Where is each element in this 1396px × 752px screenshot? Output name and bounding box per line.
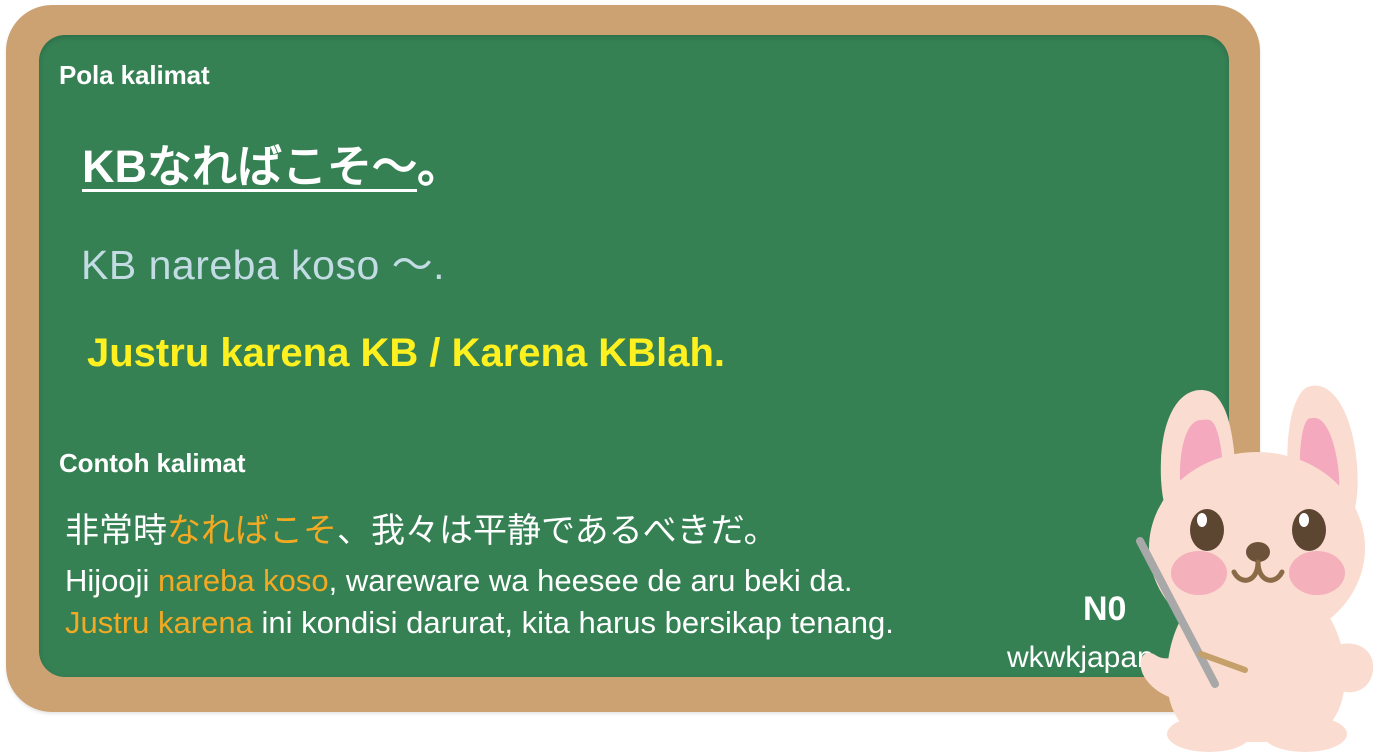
pattern-indonesian: Justru karena KB / Karena KBlah. [87,331,725,376]
left-eye-highlight [1197,513,1207,527]
example-jp-prefix: 非常時 [65,512,167,550]
right-foot [1263,716,1347,752]
blackboard-frame: Pola kalimat KBなればこそ～。 KB nareba koso ～.… [6,5,1260,712]
pattern-japanese: KBなればこそ～。 [82,130,462,195]
example-jp-suffix: 、我々は平静であるべきだ。 [337,512,778,550]
pattern-japanese-underlined: KBなればこそ～ [82,141,417,192]
example-romaji-highlight: nareba koso [158,563,329,598]
left-eye-icon [1190,509,1224,551]
right-arm [1325,643,1373,692]
right-cheek [1289,551,1345,595]
pattern-japanese-period: 。 [417,141,462,192]
pattern-section-label: Pola kalimat [59,60,210,91]
example-romaji: Hijooji nareba koso, wareware wa heesee … [65,563,853,599]
example-romaji-suffix: , wareware wa heesee de aru beki da. [329,563,853,598]
nose-icon [1246,542,1270,562]
right-eye-icon [1292,509,1326,551]
example-indonesian: Justru karena ini kondisi darurat, kita … [65,605,894,641]
left-cheek [1171,551,1227,595]
example-romaji-prefix: Hijooji [65,563,158,598]
example-id-highlight: Justru karena [65,605,253,640]
example-section-label: Contoh kalimat [59,448,245,479]
example-jp-highlight: なればこそ [167,512,337,550]
right-eye-highlight [1299,513,1309,527]
example-japanese: 非常時なればこそ、我々は平静であるべきだ。 [65,503,778,552]
flashcard-canvas: Pola kalimat KBなればこそ～。 KB nareba koso ～.… [0,0,1396,752]
rabbit-teacher-mascot [1105,378,1396,752]
pattern-romaji: KB nareba koso ～. [81,231,445,291]
left-foot [1167,716,1251,752]
example-id-suffix: ini kondisi darurat, kita harus bersikap… [253,605,894,640]
blackboard-surface: Pola kalimat KBなればこそ～。 KB nareba koso ～.… [39,35,1229,677]
